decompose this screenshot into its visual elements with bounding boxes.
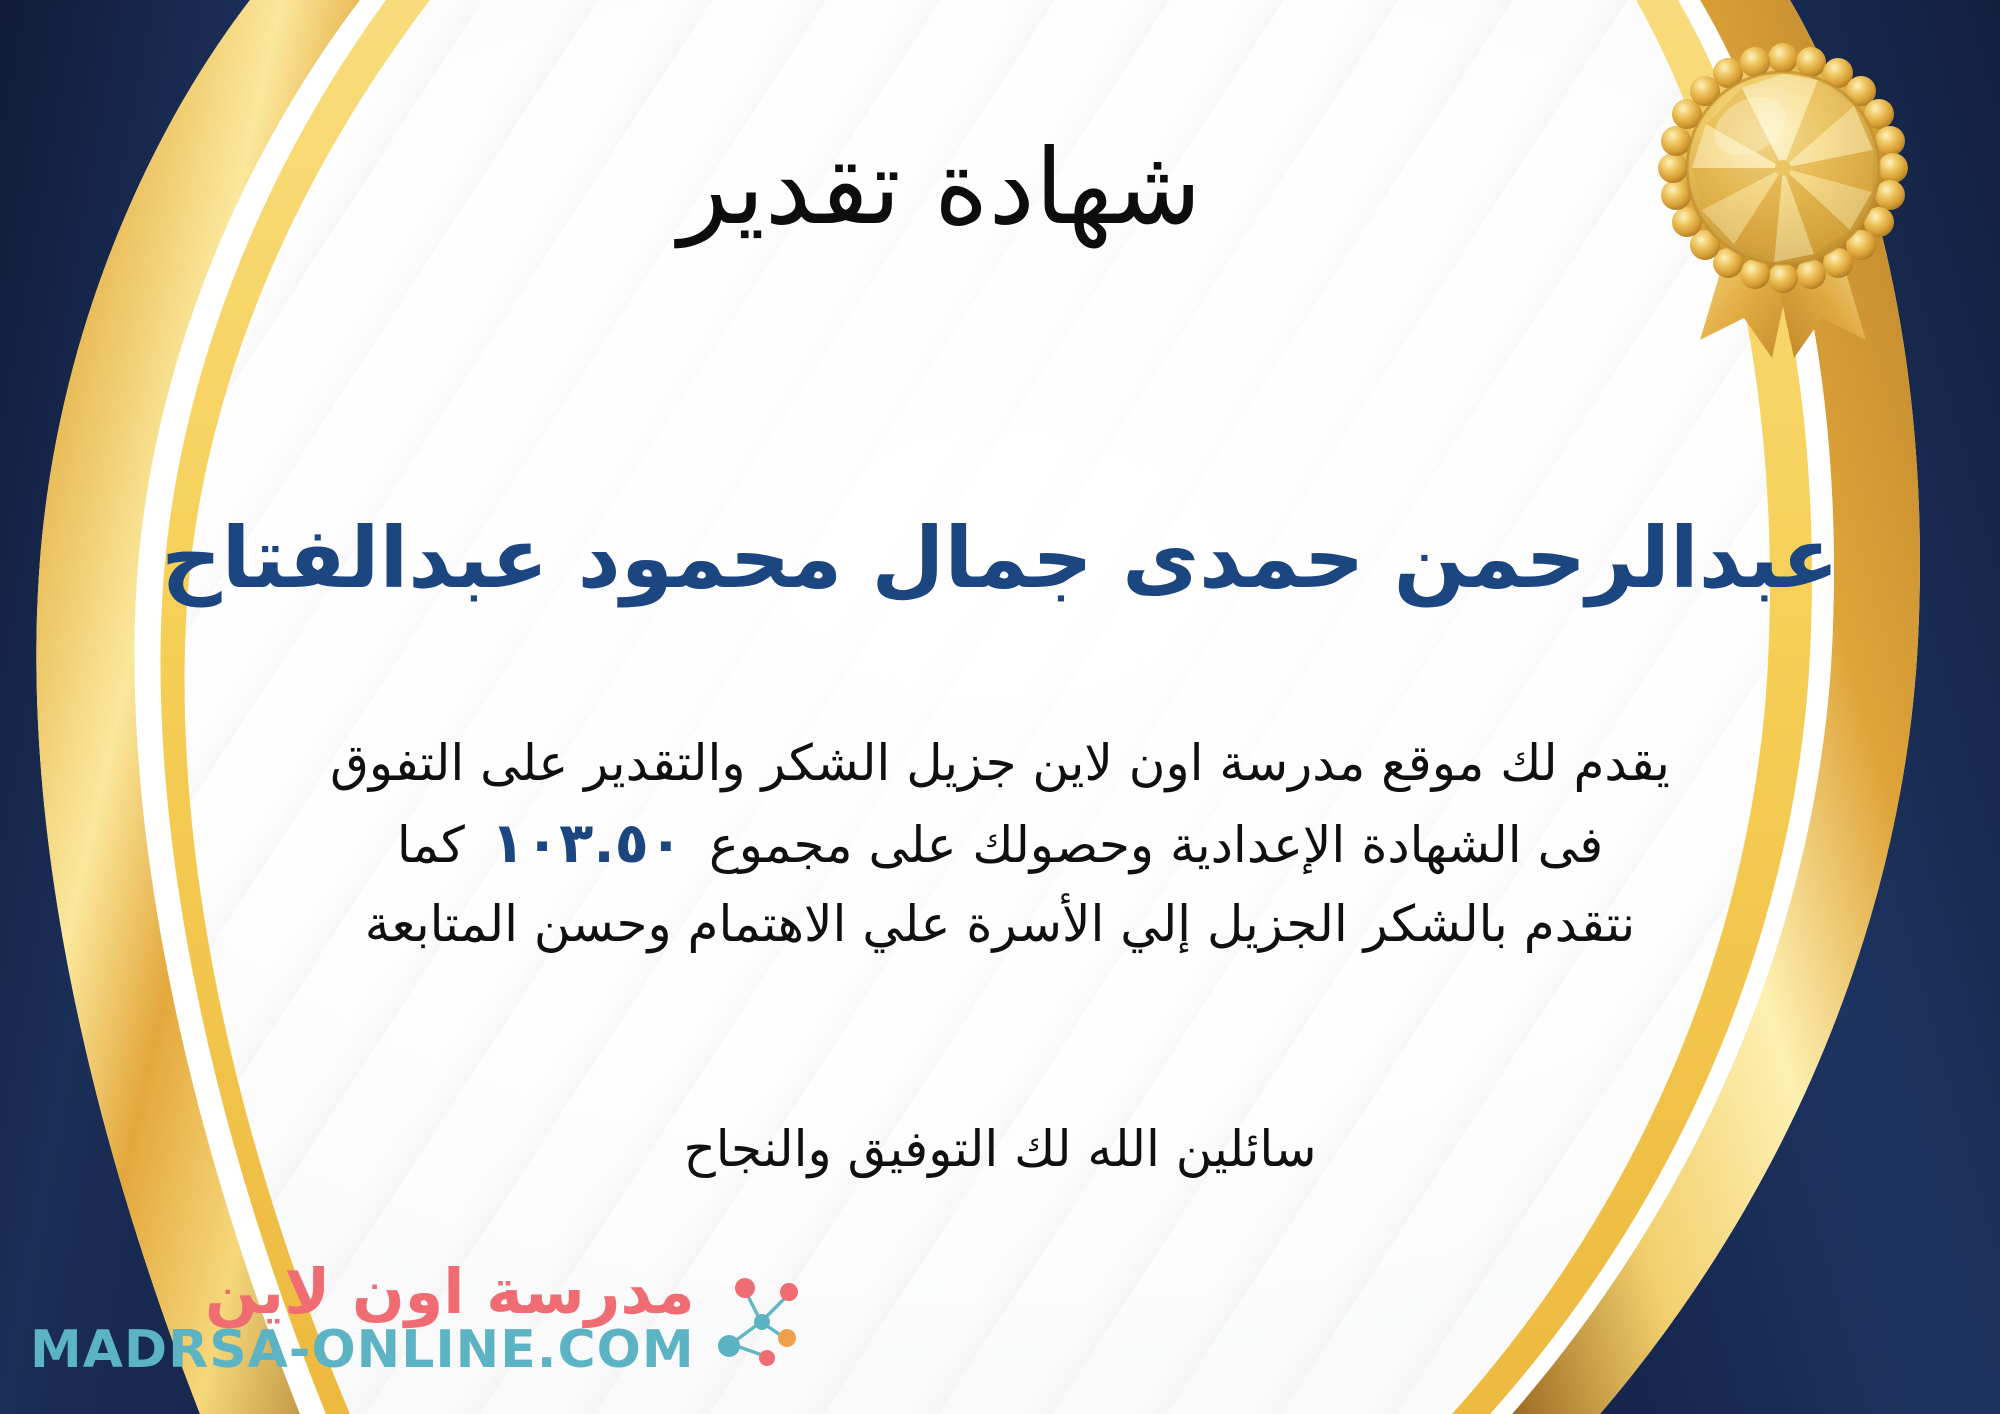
- certificate-body: يقدم لك موقع مدرسة اون لاين جزيل الشكر و…: [60, 725, 1940, 962]
- logo-text-group: مدرسة اون لاين MADRSA-ONLINE.COM: [30, 1260, 695, 1378]
- gold-medal-rosette-icon: [1658, 40, 1908, 370]
- body-line-2-prefix: فى الشهادة الإعدادية وحصولك على مجموع: [709, 816, 1603, 874]
- student-name: عبدالرحمن حمدى جمال محمود عبدالفتاح: [0, 510, 2000, 607]
- certificate-page: شهادة تقدير عبدالرحمن حمدى جمال محمود عب…: [0, 0, 2000, 1414]
- network-nodes-icon: [705, 1264, 801, 1374]
- body-line-2: فى الشهادة الإعدادية وحصولك على مجموع١٠٣…: [60, 801, 1940, 886]
- body-line-3: نتقدم بالشكر الجزيل إلي الأسرة علي الاهت…: [60, 886, 1940, 962]
- closing-line: سائلين الله لك التوفيق والنجاح: [0, 1120, 2000, 1178]
- site-logo[interactable]: مدرسة اون لاين MADRSA-ONLINE.COM: [30, 1260, 801, 1378]
- logo-arabic-name: مدرسة اون لاين: [205, 1260, 695, 1323]
- body-line-1: يقدم لك موقع مدرسة اون لاين جزيل الشكر و…: [60, 725, 1940, 801]
- body-line-2-suffix: كما: [397, 816, 465, 874]
- grade-total-value: ١٠٣.٥٠: [465, 811, 709, 876]
- logo-domain: MADRSA-ONLINE.COM: [30, 1323, 695, 1378]
